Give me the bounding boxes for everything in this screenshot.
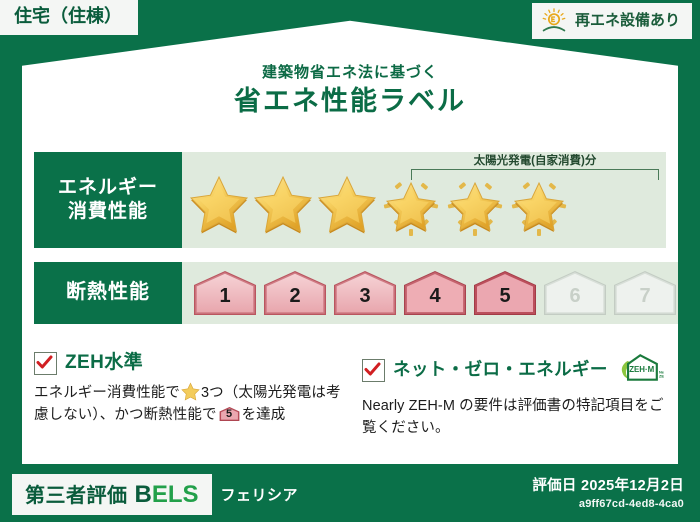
- claim-zeh: ZEH水準 エネルギー消費性能で3つ（太陽光発電は考慮しない）、かつ断熱性能で5…: [34, 352, 344, 440]
- housing-type-tag: 住宅（住棟）: [0, 0, 138, 35]
- star-icon: [252, 171, 314, 237]
- insulation-grade-number: 4: [402, 286, 468, 306]
- svg-text:ZEH-M: ZEH-M: [659, 374, 664, 379]
- claim-zeh-body-part3: を達成: [242, 407, 286, 423]
- claim-zeh-title: ZEH水準: [65, 353, 143, 374]
- label-title-block: 建築物省エネ法に基づく 省エネ性能ラベル: [0, 64, 700, 119]
- claim-zeh-header: ZEH水準: [34, 352, 344, 375]
- energy-performance-row-body: 太陽光発電(自家消費)分: [182, 152, 666, 248]
- claims-section: ZEH水準 エネルギー消費性能で3つ（太陽光発電は考慮しない）、かつ断熱性能で5…: [34, 352, 672, 440]
- evaluation-date: 評価日 2025年12月2日: [532, 478, 684, 495]
- energy-label-line2: 消費性能: [68, 200, 148, 224]
- evaluation-id: a9ff67cd-4ed8-4ca0: [532, 498, 684, 510]
- insulation-grade-number: 7: [612, 286, 678, 306]
- claim-zeh-body-part1: エネルギー消費性能で: [34, 385, 180, 401]
- star-icon: [316, 171, 378, 237]
- svg-text:ZEH·M: ZEH·M: [629, 365, 654, 374]
- insulation-performance-row-label: 断熱性能: [34, 262, 182, 324]
- solar-sun-icon: [540, 8, 568, 34]
- insulation-grade-number: 6: [542, 286, 608, 306]
- renewable-badge-label: 再エネ設備あり: [575, 13, 680, 30]
- insulation-grade-chip: 4: [402, 269, 468, 317]
- sparkle-star-icon: [508, 171, 570, 237]
- solar-annotation-label: 太陽光発電(自家消費)分: [411, 154, 659, 168]
- insulation-grade-number: 5: [472, 286, 538, 306]
- company-name: フェリシア: [221, 484, 299, 505]
- checkmark-icon: [362, 359, 385, 382]
- insulation-grade-chip: 1: [192, 269, 258, 317]
- insulation-grade-number: 1: [192, 286, 258, 306]
- insulation-performance-row-body: 1 2 3: [182, 262, 678, 324]
- sparkle-star-icon: [444, 171, 506, 237]
- energy-performance-label: 住宅（住棟） 再エネ設備あり 建築物省エネ法に基づく: [0, 0, 700, 522]
- checkmark-icon: [34, 352, 57, 375]
- bels-certification-mark: 第三者評価 BELS: [12, 474, 212, 515]
- label-title: 省エネ性能ラベル: [0, 85, 700, 119]
- energy-star-rating: [188, 171, 570, 237]
- insulation-grade-chip-achieved: 5: [472, 269, 538, 317]
- energy-performance-row-label: エネルギー 消費性能: [34, 152, 182, 248]
- bels-third-party-label: 第三者評価: [25, 479, 128, 508]
- zeh-m-logo: ZEH·M Nearly ZEH-M: [616, 352, 664, 388]
- bels-letters-els: ELS: [152, 481, 199, 508]
- insulation-grade-number: 3: [332, 286, 398, 306]
- claim-net-zero-body: Nearly ZEH-M の要件は評価書の特記項目をご覧ください。: [362, 395, 672, 440]
- renewable-energy-badge: 再エネ設備あり: [532, 3, 692, 39]
- label-footer: 第三者評価 BELS フェリシア 評価日 2025年12月2日 a9ff67cd…: [0, 466, 700, 522]
- insulation-grade-number: 2: [262, 286, 328, 306]
- insulation-label-line1: 断熱性能: [66, 280, 150, 306]
- claim-net-zero-title: ネット・ゼロ・エネルギー: [393, 360, 608, 379]
- insulation-grade-chip: 3: [332, 269, 398, 317]
- star-icon: [181, 382, 200, 401]
- insulation-grade-chip-inactive: 6: [542, 269, 608, 317]
- insulation-performance-row: 断熱性能 1: [34, 262, 666, 324]
- energy-performance-row: エネルギー 消費性能 太陽光発電(自家消費)分: [34, 152, 666, 248]
- energy-label-line1: エネルギー: [58, 176, 158, 200]
- label-subtitle: 建築物省エネ法に基づく: [0, 64, 700, 82]
- bels-letter-b: B: [135, 481, 152, 508]
- insulation-grade-inline-icon: 5: [219, 405, 240, 423]
- claim-zeh-body-house-number: 5: [219, 409, 240, 420]
- sparkle-star-icon: [380, 171, 442, 237]
- bels-wordmark: BELS: [135, 481, 199, 509]
- claim-net-zero: ネット・ゼロ・エネルギー ZEH·M Nearly ZEH-M Nearly Z…: [362, 352, 672, 440]
- insulation-grade-scale: 1 2 3: [192, 269, 678, 317]
- insulation-grade-chip: 2: [262, 269, 328, 317]
- evaluation-info: 評価日 2025年12月2日 a9ff67cd-4ed8-4ca0: [532, 478, 684, 510]
- star-icon: [188, 171, 250, 237]
- claim-net-zero-header: ネット・ゼロ・エネルギー ZEH·M Nearly ZEH-M: [362, 352, 672, 388]
- insulation-grade-chip-inactive: 7: [612, 269, 678, 317]
- housing-type-label: 住宅（住棟）: [14, 6, 122, 26]
- claim-zeh-body: エネルギー消費性能で3つ（太陽光発電は考慮しない）、かつ断熱性能で5を達成: [34, 382, 344, 427]
